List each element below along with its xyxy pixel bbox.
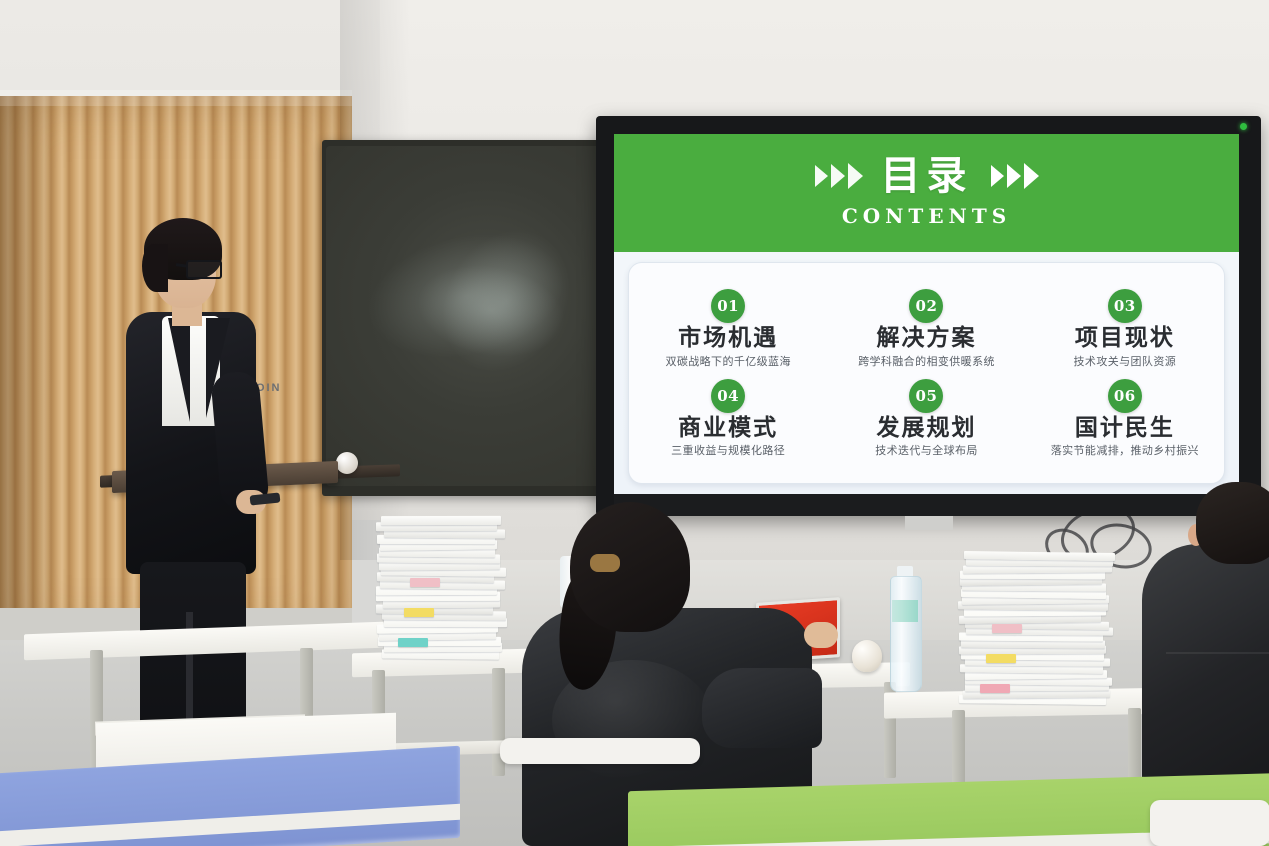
contents-item-02[interactable]: 02 解决方案 跨学科融合的相变供暖系统 <box>827 285 1025 371</box>
sticky-tab <box>992 624 1022 633</box>
person-arm <box>702 668 822 748</box>
contents-item-06[interactable]: 06 国计民生 落实节能减排，推动乡村振兴 <box>1026 375 1224 461</box>
wood-panel-highlight <box>0 96 352 106</box>
item-title: 国计民生 <box>1036 415 1214 441</box>
chevron-right-icon <box>1024 163 1039 189</box>
chalk-smudge <box>417 206 596 396</box>
bottle-label <box>892 600 918 622</box>
jacket-seam <box>1166 652 1269 654</box>
item-number-badge: 06 <box>1108 379 1142 413</box>
classroom-scene: 目录 CONTENTS 01 市场 <box>0 0 1269 846</box>
water-bottle <box>890 576 922 692</box>
interactive-display[interactable]: 目录 CONTENTS 01 市场 <box>596 116 1261 516</box>
display-screen[interactable]: 目录 CONTENTS 01 市场 <box>614 134 1239 494</box>
item-subtitle: 跨学科融合的相变供暖系统 <box>837 355 1015 369</box>
item-number-badge: 02 <box>909 289 943 323</box>
item-number-badge: 04 <box>711 379 745 413</box>
sticky-tab <box>986 654 1016 663</box>
contents-item-04[interactable]: 04 商业模式 三重收益与规模化路径 <box>629 375 827 461</box>
contents-grid: 01 市场机遇 双碳战略下的千亿级蓝海 02 解决方案 跨学科融合的相变供暖系统… <box>629 285 1224 460</box>
presenter-person <box>120 212 270 782</box>
person-hand <box>804 622 838 648</box>
contents-item-05[interactable]: 05 发展规划 技术迭代与全球布局 <box>827 375 1025 461</box>
chevron-right-icon-group-right <box>991 163 1039 189</box>
glasses-icon <box>186 260 222 279</box>
presentation-slide: 目录 CONTENTS 01 市场 <box>614 134 1239 494</box>
item-number-badge: 05 <box>909 379 943 413</box>
chevron-right-icon <box>1007 164 1021 188</box>
person-hair <box>570 502 690 632</box>
slide-title-cn: 目录 <box>881 156 973 196</box>
presenter-hair <box>142 244 168 292</box>
slide-header: 目录 CONTENTS <box>614 134 1239 252</box>
chevron-right-icon <box>848 163 863 189</box>
item-subtitle: 落实节能减排，推动乡村振兴 <box>1036 444 1214 458</box>
contents-card-wrapper: 01 市场机遇 双碳战略下的千亿级蓝海 02 解决方案 跨学科融合的相变供暖系统… <box>628 262 1225 484</box>
wood-panel-shadow <box>0 96 60 641</box>
chalkboard <box>322 140 622 496</box>
item-title: 商业模式 <box>639 415 817 441</box>
chalkboard-surface <box>326 146 618 486</box>
document-stack-left <box>380 516 500 656</box>
contents-item-01[interactable]: 01 市场机遇 双碳战略下的千亿级蓝海 <box>629 285 827 371</box>
presenter-lapel <box>168 318 190 422</box>
chair-back <box>500 738 700 764</box>
contents-card: 01 市场机遇 双碳战略下的千亿级蓝海 02 解决方案 跨学科融合的相变供暖系统… <box>628 262 1225 484</box>
sticky-tab <box>980 684 1010 693</box>
item-title: 解决方案 <box>837 325 1015 351</box>
item-subtitle: 三重收益与规模化路径 <box>639 444 817 458</box>
hair-tie <box>590 554 620 572</box>
item-number-badge: 03 <box>1108 289 1142 323</box>
sticky-tab <box>404 608 434 617</box>
item-number-badge: 01 <box>711 289 745 323</box>
contents-item-03[interactable]: 03 项目现状 技术攻关与团队资源 <box>1026 285 1224 371</box>
chair-right <box>1150 800 1269 846</box>
display-stand <box>905 516 953 530</box>
slide-title-en: CONTENTS <box>614 204 1239 228</box>
item-subtitle: 双碳战略下的千亿级蓝海 <box>639 355 817 369</box>
chevron-right-icon <box>831 164 845 188</box>
sticky-tab <box>398 638 428 647</box>
white-sphere-object <box>336 452 358 474</box>
item-title: 发展规划 <box>837 415 1015 441</box>
white-ornament <box>852 640 882 672</box>
chevron-right-icon <box>815 165 828 187</box>
power-led-indicator <box>1240 123 1247 130</box>
chevron-right-icon-group-left <box>815 163 863 189</box>
paper-sheet <box>381 516 501 525</box>
person-hair <box>1196 482 1269 564</box>
item-title: 市场机遇 <box>639 325 817 351</box>
document-stack-right <box>962 552 1108 702</box>
item-subtitle: 技术攻关与团队资源 <box>1036 355 1214 369</box>
item-title: 项目现状 <box>1036 325 1214 351</box>
item-subtitle: 技术迭代与全球布局 <box>837 444 1015 458</box>
chevron-right-icon <box>991 165 1004 187</box>
sticky-tab <box>410 578 440 587</box>
